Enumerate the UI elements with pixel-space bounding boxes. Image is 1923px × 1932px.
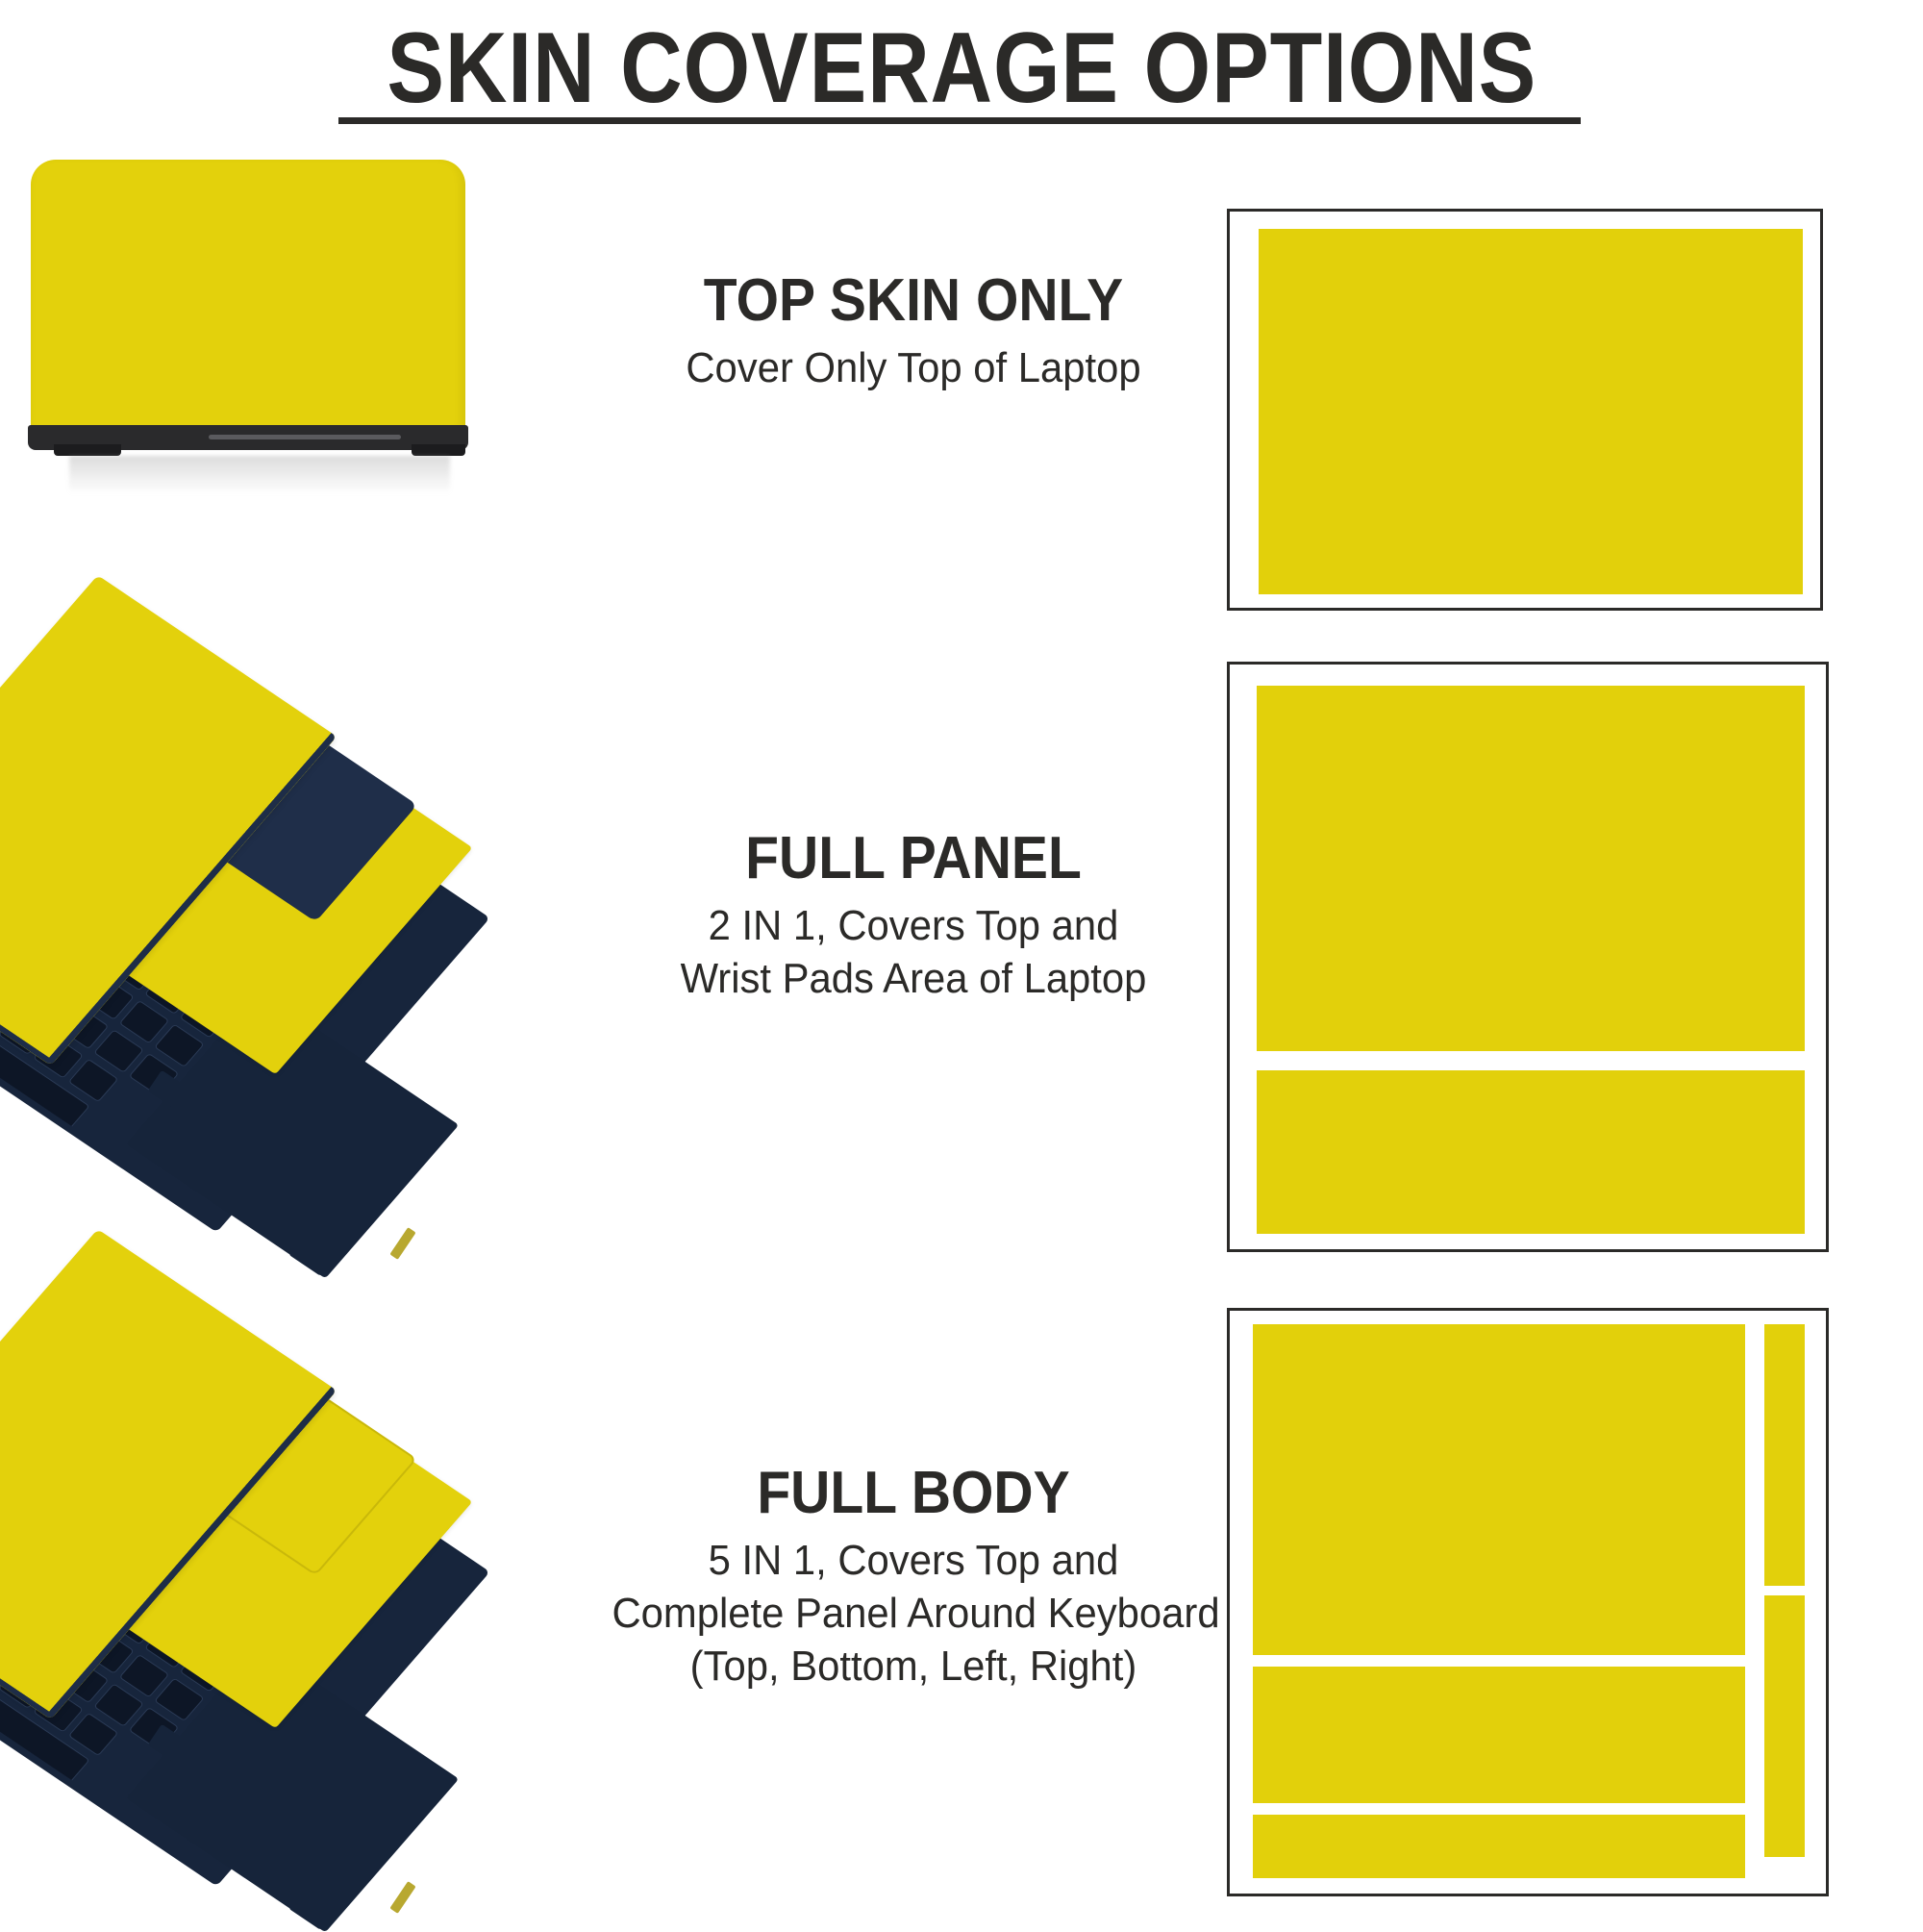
title-underline (338, 117, 1581, 124)
laptop-foot-right (412, 444, 465, 456)
wrist-pad-piece (1253, 1667, 1745, 1803)
laptop-lid-skin (31, 160, 465, 437)
skin-sheet-top-skin-only (1227, 209, 1823, 611)
option-subtitle-line: Complete Panel Around Keyboard (612, 1587, 1215, 1640)
option-subtitle-line: Cover Only Top of Laptop (612, 341, 1215, 394)
option-row-full-body: FULL BODY 5 IN 1, Covers Top and Complet… (0, 1298, 1923, 1923)
bottom-strip-piece (1253, 1815, 1745, 1878)
open-laptop-graphic (38, 654, 615, 1260)
laptop-base-vent (209, 435, 401, 439)
top-lid-piece (1259, 229, 1803, 594)
option-title: TOP SKIN ONLY (621, 269, 1205, 332)
top-lid-piece (1253, 1324, 1745, 1655)
open-laptop-graphic (38, 1308, 615, 1914)
option-subtitle-line: 5 IN 1, Covers Top and (612, 1534, 1215, 1587)
option-subtitle: 5 IN 1, Covers Top and Complete Panel Ar… (612, 1534, 1215, 1693)
right-strip-upper-piece (1764, 1324, 1805, 1586)
skin-sheet-full-panel (1227, 662, 1829, 1252)
laptop-port (389, 1227, 415, 1260)
option-row-full-panel: FULL PANEL 2 IN 1, Covers Top and Wrist … (0, 644, 1923, 1269)
right-strip-lower-piece (1764, 1595, 1805, 1857)
option-subtitle: Cover Only Top of Laptop (612, 341, 1215, 394)
option-subtitle-line: Wrist Pads Area of Laptop (612, 952, 1215, 1005)
page-title: SKIN COVERAGE OPTIONS (387, 17, 1536, 119)
option-subtitle-line: (Top, Bottom, Left, Right) (612, 1640, 1215, 1693)
option-text-top-skin-only: TOP SKIN ONLY Cover Only Top of Laptop (596, 269, 1231, 394)
wrist-pad-piece (1257, 1070, 1805, 1234)
laptop-foot-left (54, 444, 121, 456)
page-header: SKIN COVERAGE OPTIONS (0, 17, 1923, 119)
option-text-full-panel: FULL PANEL 2 IN 1, Covers Top and Wrist … (596, 827, 1231, 1005)
laptop-port (389, 1881, 415, 1914)
option-row-top-skin-only: TOP SKIN ONLY Cover Only Top of Laptop (0, 144, 1923, 625)
option-subtitle-line: 2 IN 1, Covers Top and (612, 899, 1215, 952)
skin-sheet-full-body (1227, 1308, 1829, 1896)
option-subtitle: 2 IN 1, Covers Top and Wrist Pads Area o… (612, 899, 1215, 1005)
option-text-full-body: FULL BODY 5 IN 1, Covers Top and Complet… (596, 1462, 1231, 1693)
laptop-reflection (69, 456, 450, 494)
closed-laptop-graphic (31, 160, 465, 448)
option-title: FULL BODY (621, 1462, 1205, 1524)
top-lid-piece (1257, 686, 1805, 1051)
option-title: FULL PANEL (621, 827, 1205, 890)
